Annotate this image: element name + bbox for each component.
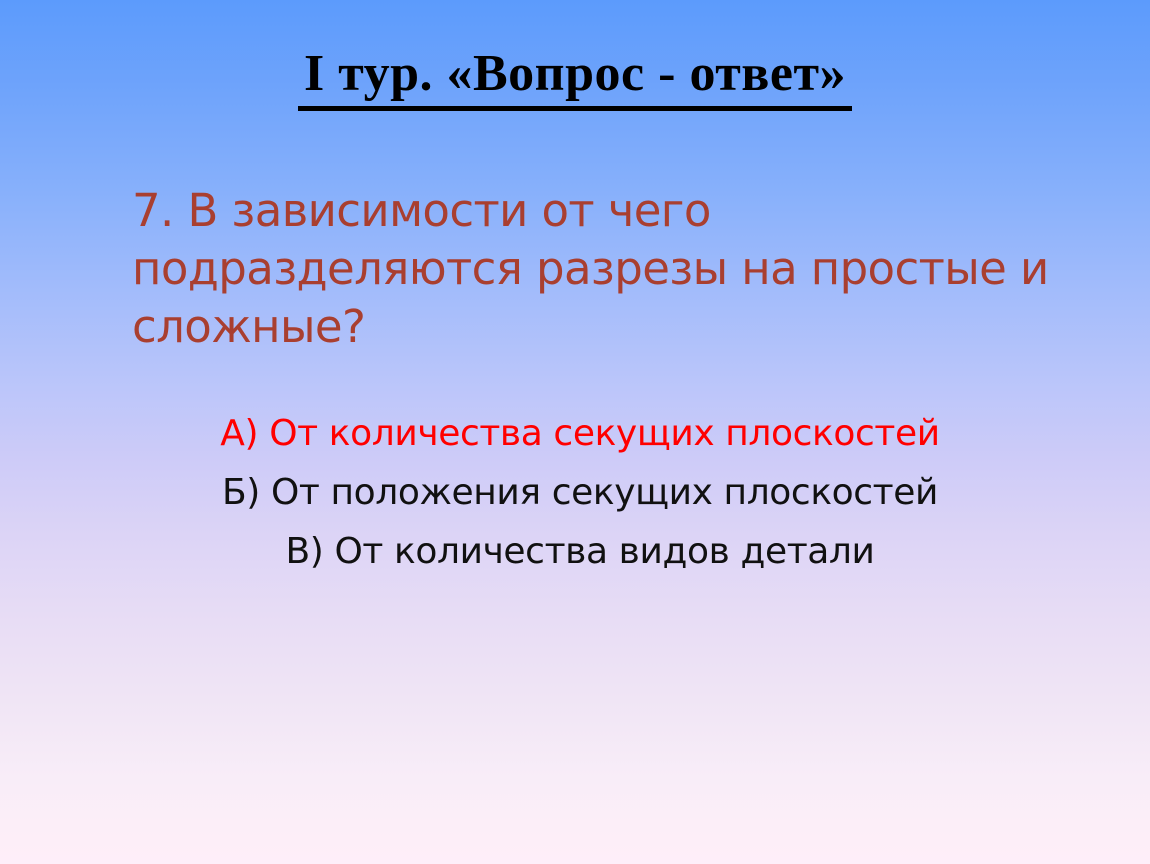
presentation-slide: I тур. «Вопрос - ответ» 7. В зависимости…: [0, 0, 1150, 864]
question-container: 7. В зависимости от чего подразделяются …: [132, 182, 1062, 356]
page-title: I тур. «Вопрос - ответ»: [298, 47, 852, 111]
answer-option-b[interactable]: Б) От положения секущих плоскостей: [140, 463, 1020, 522]
slide-title-container: I тур. «Вопрос - ответ»: [0, 47, 1150, 111]
answer-option-v[interactable]: В) От количества видов детали: [140, 522, 1020, 581]
question-text: 7. В зависимости от чего подразделяются …: [132, 182, 1062, 356]
answer-option-a[interactable]: А) От количества секущих плоскостей: [140, 404, 1020, 463]
answer-options-list: А) От количества секущих плоскостей Б) О…: [140, 404, 1020, 581]
